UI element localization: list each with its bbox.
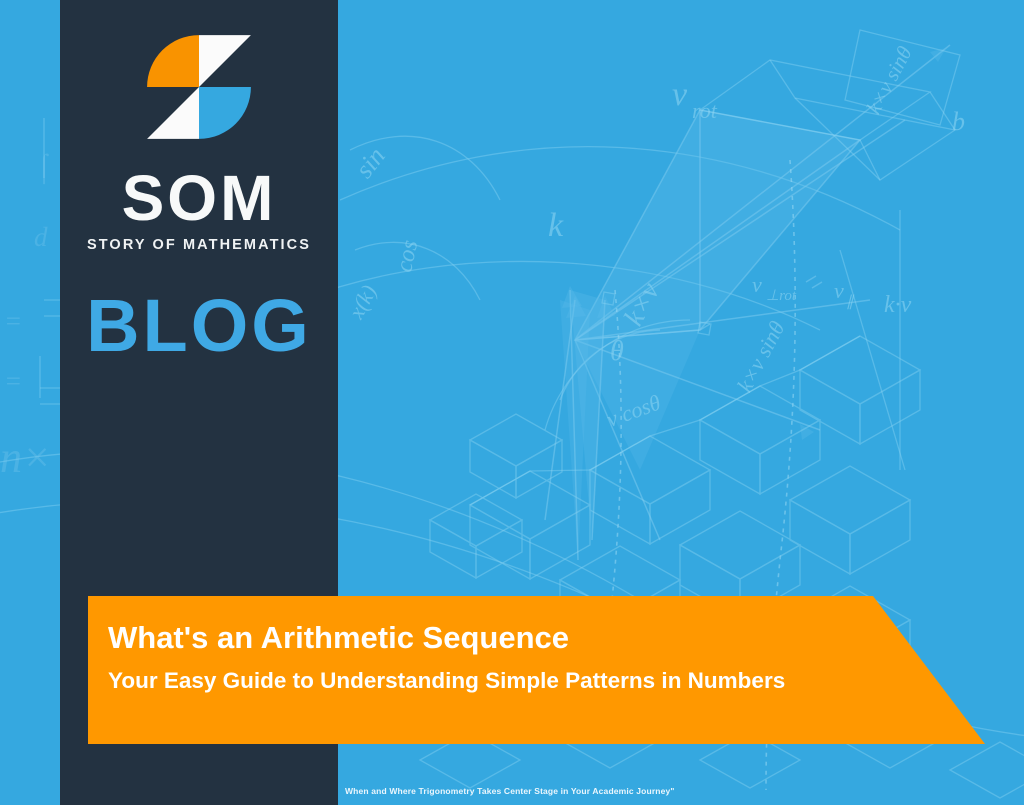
- svg-text:n×: n×: [0, 433, 52, 482]
- footer-caption: When and Where Trigonometry Takes Center…: [345, 786, 675, 796]
- svg-text:x(k): x(k): [343, 281, 382, 324]
- svg-text:⊥rot: ⊥rot: [766, 288, 797, 304]
- svg-text:k×v sinθ: k×v sinθ: [732, 317, 790, 396]
- blog-cover-canvas: .ln { fill:none; stroke:#79c9ef; stroke-…: [0, 0, 1024, 805]
- svg-text:=: =: [4, 366, 22, 396]
- svg-text:=: =: [4, 306, 22, 336]
- som-s-mark-icon: [140, 28, 258, 146]
- brand-name: SOM: [60, 168, 338, 229]
- title-banner: What's an Arithmetic Sequence Your Easy …: [88, 596, 988, 744]
- section-label-blog: BLOG: [60, 289, 338, 363]
- svg-text:b: b: [952, 107, 965, 136]
- brand-tagline: STORY OF MATHEMATICS: [60, 237, 338, 253]
- svg-text:v: v: [752, 272, 762, 297]
- svg-text:rot: rot: [692, 98, 718, 123]
- svg-text:v: v: [672, 76, 688, 113]
- banner-title: What's an Arithmetic Sequence: [108, 620, 569, 656]
- svg-text:θ: θ: [610, 336, 624, 367]
- svg-text:d: d: [34, 222, 48, 252]
- brand-logo-block: SOM STORY OF MATHEMATICS BLOG: [60, 28, 338, 363]
- svg-text:v: v: [834, 278, 844, 303]
- svg-text:k·v: k·v: [884, 292, 912, 318]
- svg-text:k: k: [548, 207, 564, 244]
- banner-subtitle: Your Easy Guide to Understanding Simple …: [108, 668, 785, 694]
